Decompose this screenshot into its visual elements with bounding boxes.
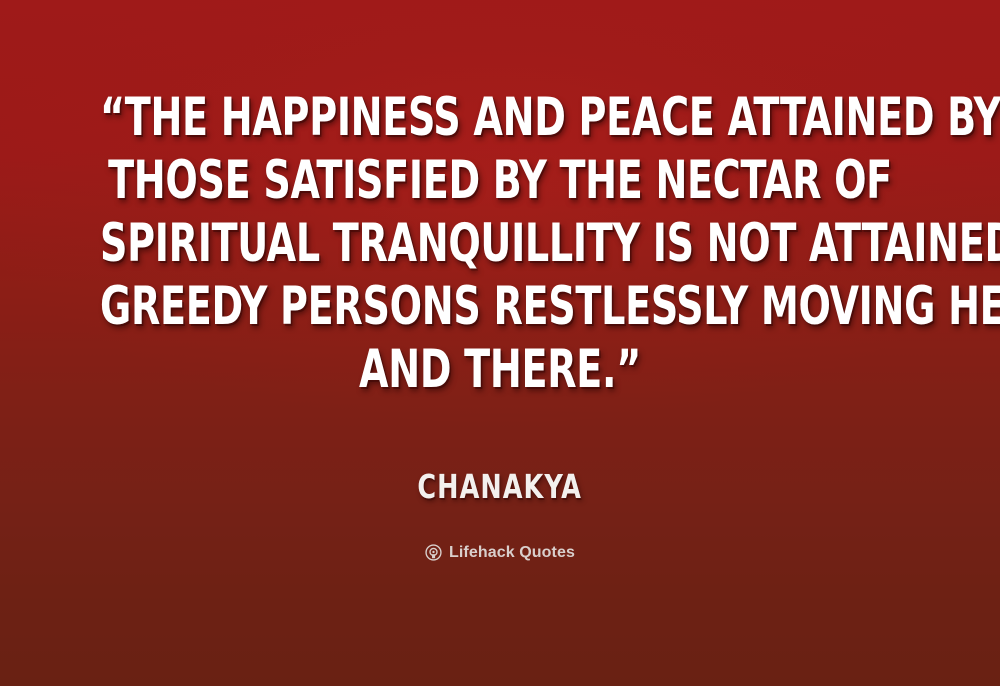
- quote-line-3: SPIRITUAL TRANQUILLITY IS NOT ATTAINED B…: [100, 212, 900, 275]
- quote-line-2: THOSE SATISFIED BY THE NECTAR OF: [100, 149, 900, 212]
- footer-label: Lifehack Quotes: [449, 544, 575, 561]
- author-name: CHANAKYA: [418, 467, 583, 506]
- lifehack-circle-logo-icon: [425, 544, 442, 561]
- quote-text-block: “THE HAPPINESS AND PEACE ATTAINED BY THO…: [0, 86, 1000, 401]
- quote-author: CHANAKYA: [0, 467, 1000, 506]
- quote-line-5: AND THERE.”: [100, 338, 900, 401]
- quote-card: “THE HAPPINESS AND PEACE ATTAINED BY THO…: [0, 0, 1000, 686]
- quote-line-4: GREEDY PERSONS RESTLESSLY MOVING HERE: [100, 275, 900, 338]
- footer-branding: Lifehack Quotes: [0, 544, 1000, 561]
- quote-line-1: “THE HAPPINESS AND PEACE ATTAINED BY: [100, 86, 900, 149]
